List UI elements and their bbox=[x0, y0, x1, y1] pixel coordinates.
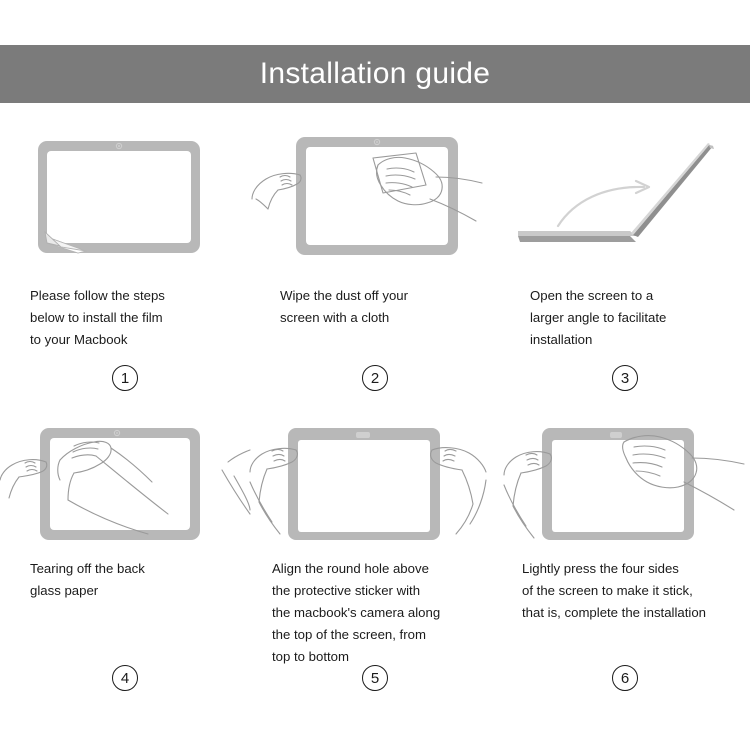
step-card-2: Wipe the dust off your screen with a clo… bbox=[250, 125, 500, 410]
steps-grid: Please follow the steps below to install… bbox=[0, 125, 750, 695]
step-number-badge-1: 1 bbox=[112, 365, 138, 391]
step-card-1: Please follow the steps below to install… bbox=[0, 125, 250, 410]
hands-wiping-screen-with-cloth-icon bbox=[250, 125, 500, 260]
hands-tearing-back-paper-icon bbox=[0, 410, 250, 545]
hands-pressing-screen-edges-icon bbox=[500, 410, 750, 545]
step-3-description: Open the screen to a larger angle to fac… bbox=[530, 285, 745, 351]
step-number-badge-3: 3 bbox=[612, 365, 638, 391]
step-1-description: Please follow the steps below to install… bbox=[30, 285, 245, 351]
header-banner: Installation guide bbox=[0, 45, 750, 103]
step-1-illustration bbox=[0, 125, 250, 260]
step-5-description: Align the round hole above the protectiv… bbox=[272, 558, 497, 668]
step-number-badge-6: 6 bbox=[612, 665, 638, 691]
step-number-badge-4: 4 bbox=[112, 665, 138, 691]
step-2-description: Wipe the dust off your screen with a clo… bbox=[280, 285, 495, 329]
step-2-illustration bbox=[250, 125, 500, 260]
installation-guide-page: Installation guide Please follow the ste… bbox=[0, 0, 750, 750]
step-6-illustration bbox=[500, 410, 750, 545]
step-card-4: Tearing off the back glass paper 4 bbox=[0, 410, 250, 695]
laptop-side-view-opening-screen-icon bbox=[500, 125, 750, 260]
step-4-description: Tearing off the back glass paper bbox=[30, 558, 245, 602]
step-3-illustration bbox=[500, 125, 750, 260]
two-hands-aligning-film-icon bbox=[250, 410, 500, 545]
step-card-3: Open the screen to a larger angle to fac… bbox=[500, 125, 750, 410]
page-title: Installation guide bbox=[260, 59, 491, 89]
step-4-illustration bbox=[0, 410, 250, 545]
step-5-illustration bbox=[250, 410, 500, 545]
step-6-description: Lightly press the four sides of the scre… bbox=[522, 558, 747, 624]
step-number-badge-5: 5 bbox=[362, 665, 388, 691]
tablet-with-peeling-film-corner-icon bbox=[0, 125, 250, 260]
step-card-6: Lightly press the four sides of the scre… bbox=[500, 410, 750, 695]
step-number-badge-2: 2 bbox=[362, 365, 388, 391]
step-card-5: Align the round hole above the protectiv… bbox=[250, 410, 500, 695]
